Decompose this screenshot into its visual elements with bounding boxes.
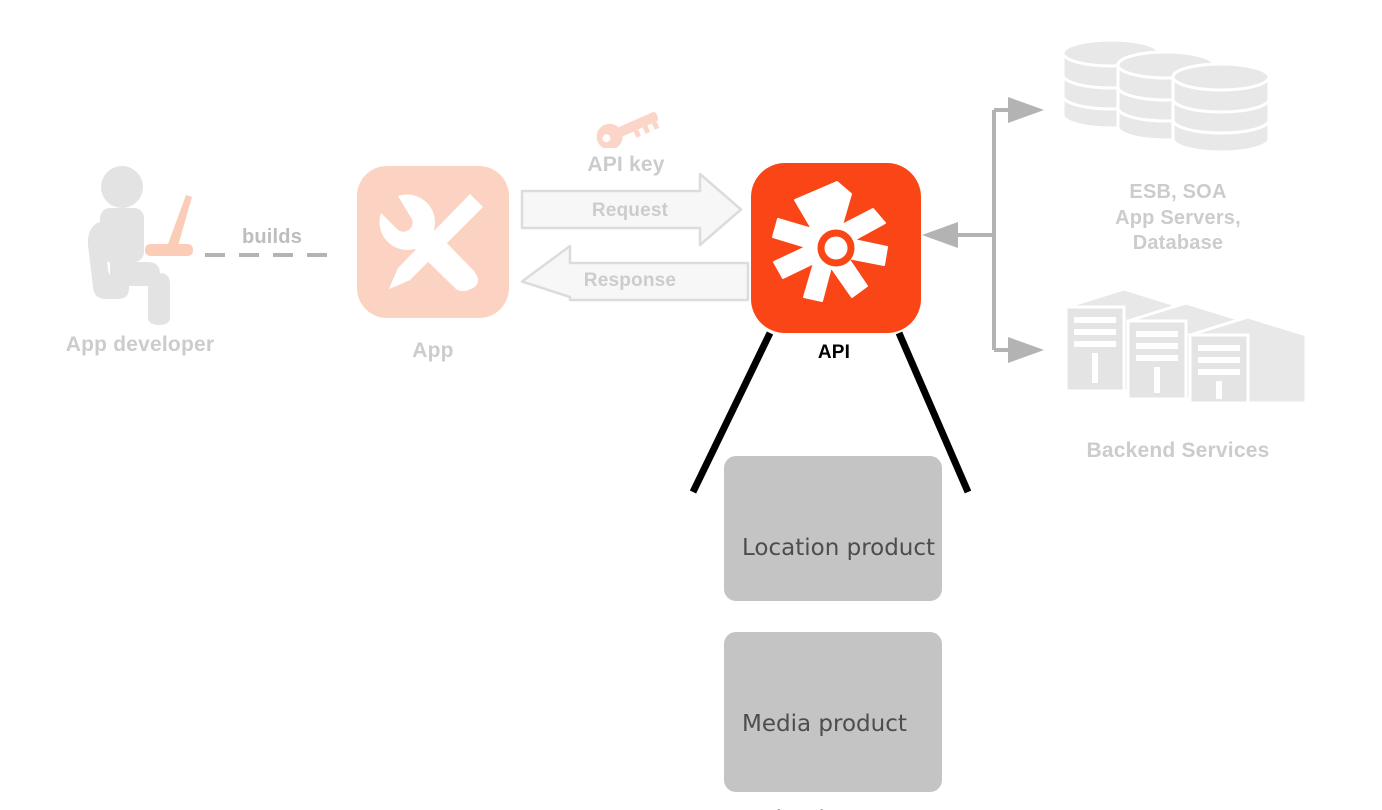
diagram-canvas: App developer builds App xyxy=(0,0,1382,810)
api-label: API xyxy=(770,341,898,365)
app-developer-label: App developer xyxy=(25,332,255,359)
key-icon xyxy=(592,110,662,148)
response-label: Response xyxy=(540,269,720,293)
database-stack-icon xyxy=(1055,35,1305,160)
app-label: App xyxy=(352,338,514,365)
request-label: Request xyxy=(540,199,720,223)
product-title: Location product xyxy=(742,532,924,564)
esb-soa-label: ESB, SOA App Servers, Database xyxy=(1078,180,1278,257)
location-product-box[interactable]: Location product /countries /cities /lan… xyxy=(724,456,942,601)
builds-label: builds xyxy=(210,225,334,251)
api-key-label: API key xyxy=(552,152,700,179)
api-tile[interactable] xyxy=(751,163,921,333)
product-path: /books xyxy=(742,804,924,810)
product-title: Media product xyxy=(742,708,924,740)
media-product-box[interactable]: Media product /books /magazines /movies xyxy=(724,632,942,792)
arrowhead-to-database xyxy=(1008,97,1044,123)
backend-arrowheads xyxy=(922,97,1044,363)
backend-services-label: Backend Services xyxy=(1058,438,1298,465)
backend-connectors xyxy=(955,110,1010,350)
app-tile[interactable] xyxy=(357,166,509,318)
server-rack-icon xyxy=(1058,285,1308,410)
arrowhead-to-servers xyxy=(1008,337,1044,363)
arrowhead-to-api xyxy=(922,222,958,248)
